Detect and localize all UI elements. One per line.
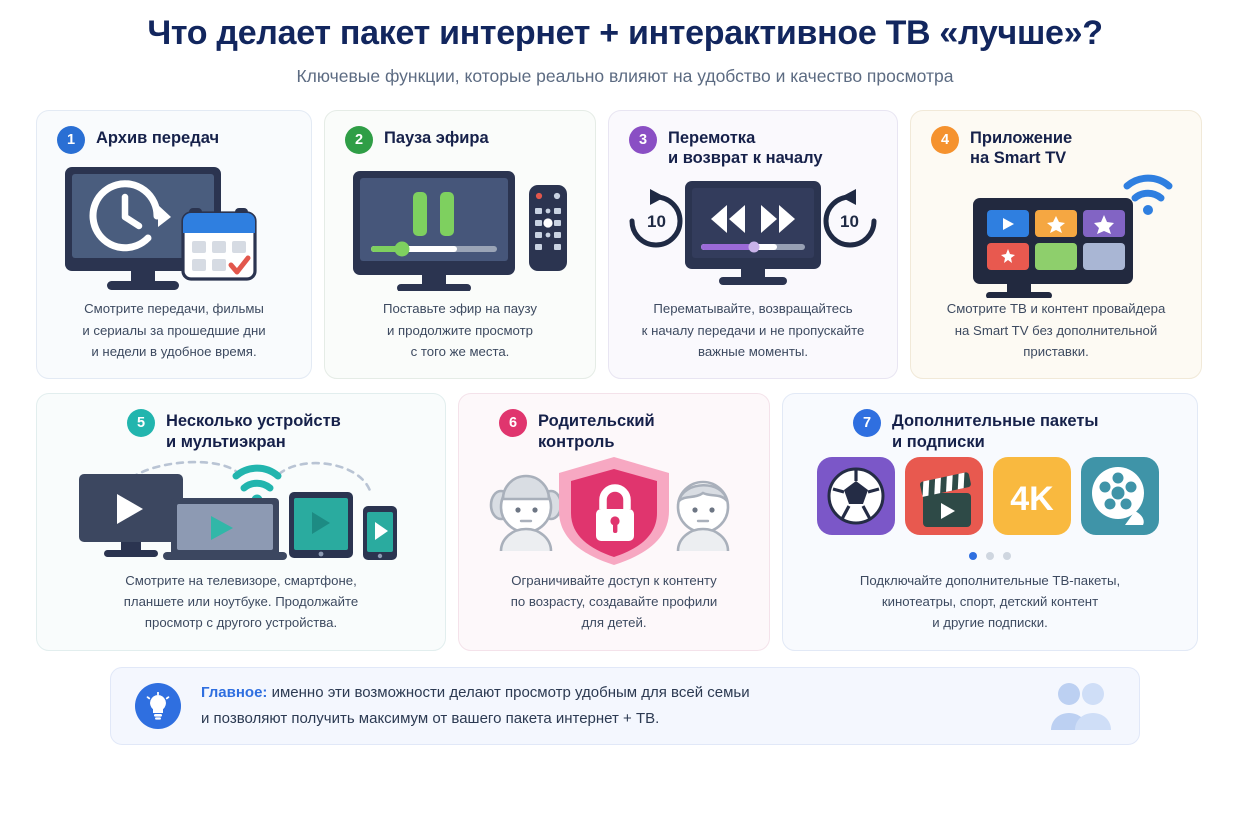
tile-film-reel	[1081, 457, 1159, 535]
dot-3[interactable]	[1003, 552, 1011, 560]
header: Что делает пакет интернет + интерактивно…	[0, 0, 1250, 87]
card-4-number-badge: 4	[931, 126, 959, 154]
feature-card-3[interactable]: 3 Перемотка и возврат к началу 10	[608, 110, 898, 379]
page-title: Что делает пакет интернет + интерактивно…	[0, 14, 1250, 53]
summary-highlight: Главное:	[201, 684, 267, 701]
subscription-tiles-icon: 4K	[815, 453, 1165, 543]
card-1-title: Архив передач	[96, 125, 219, 148]
tv-rewind-forward-icon: 10	[623, 177, 883, 289]
card-2-head: 2 Пауза эфира	[339, 125, 581, 154]
card-4-title: Приложение на Smart TV	[970, 125, 1072, 168]
card-5-illustration	[51, 452, 431, 570]
card-6-number-badge: 6	[499, 409, 527, 437]
tv-clock-calendar-icon	[59, 161, 289, 291]
skip-forward-10-icon: 10	[826, 189, 874, 245]
card-5-number-badge: 5	[127, 409, 155, 437]
card-4-description: Смотрите ТВ и контент провайдера на Smar…	[925, 298, 1187, 362]
feature-card-2[interactable]: 2 Пауза эфира	[324, 110, 596, 379]
card-4-illustration	[925, 168, 1187, 298]
infographic-page: Что делает пакет интернет + интерактивно…	[0, 0, 1250, 833]
summary-banner: Главное: именно эти возможности делают п…	[110, 667, 1140, 745]
tile-clapperboard	[905, 457, 983, 535]
card-1-head: 1 Архив передач	[51, 125, 297, 154]
svg-text:10: 10	[840, 212, 859, 231]
card-6-description: Ограничивайте доступ к контенту по возра…	[473, 570, 755, 634]
card-3-description: Перематывайте, возвращайтесь к началу пе…	[623, 298, 883, 362]
svg-text:10: 10	[647, 212, 666, 231]
card-6-illustration	[473, 452, 755, 570]
lightbulb-icon	[145, 692, 171, 720]
card-4-head: 4 Приложение на Smart TV	[925, 125, 1187, 168]
card-6-head: 6 Родительский контроль	[473, 408, 755, 451]
two-people-icon	[1047, 680, 1113, 732]
tile-football	[817, 457, 895, 535]
wifi-icon	[1127, 178, 1169, 198]
svg-text:4K: 4K	[1010, 480, 1054, 518]
two-people-badge	[1047, 680, 1113, 732]
summary-line-2: и позволяют получить максимум от вашего …	[201, 706, 1027, 732]
summary-line-1: Главное: именно эти возможности делают п…	[201, 684, 750, 701]
cards-row-bottom: 5 Несколько устройств и мультиэкран	[0, 393, 1250, 650]
card-7-description: Подключайте дополнительные ТВ-пакеты, ки…	[797, 570, 1183, 634]
feature-card-1[interactable]: 1 Архив передач	[36, 110, 312, 379]
card-1-number-badge: 1	[57, 126, 85, 154]
card-7-title: Дополнительные пакеты и подписки	[892, 408, 1099, 451]
cards-row-top: 1 Архив передач	[0, 110, 1250, 379]
card-2-illustration	[339, 154, 581, 298]
feature-card-4[interactable]: 4 Приложение на Smart TV	[910, 110, 1202, 379]
card-3-illustration: 10	[623, 168, 883, 298]
dot-1[interactable]	[969, 552, 977, 560]
summary-text: Главное: именно эти возможности делают п…	[201, 680, 1027, 733]
pagination-dots[interactable]	[969, 552, 1011, 560]
page-subtitle: Ключевые функции, которые реально влияют…	[0, 66, 1250, 87]
multi-device-icon	[71, 452, 411, 570]
card-3-head: 3 Перемотка и возврат к началу	[623, 125, 883, 168]
tv-pause-remote-icon	[347, 161, 573, 291]
card-1-description: Смотрите передачи, фильмы и сериалы за п…	[51, 298, 297, 362]
shield-lock-children-icon	[479, 455, 749, 567]
summary-line-1-rest: именно эти возможности делают просмотр у…	[267, 684, 749, 701]
card-6-title: Родительский контроль	[538, 408, 655, 451]
feature-card-5[interactable]: 5 Несколько устройств и мультиэкран	[36, 393, 446, 650]
wifi-icon	[236, 468, 278, 488]
feature-card-7[interactable]: 7 Дополнительные пакеты и подписки	[782, 393, 1198, 650]
girl-avatar	[491, 476, 561, 551]
card-3-title: Перемотка и возврат к началу	[668, 125, 823, 168]
card-7-head: 7 Дополнительные пакеты и подписки	[797, 408, 1183, 451]
feature-card-6[interactable]: 6 Родительский контроль	[458, 393, 770, 650]
card-5-head: 5 Несколько устройств и мультиэкран	[51, 408, 431, 451]
smart-tv-apps-wifi-icon	[931, 168, 1181, 298]
tile-4k: 4K	[993, 457, 1071, 535]
skip-back-10-icon: 10	[632, 189, 680, 245]
boy-avatar	[678, 482, 728, 551]
card-1-illustration	[51, 154, 297, 298]
dot-2[interactable]	[986, 552, 994, 560]
lightbulb-badge	[135, 683, 181, 729]
card-2-number-badge: 2	[345, 126, 373, 154]
card-7-number-badge: 7	[853, 409, 881, 437]
card-7-illustration: 4K	[797, 452, 1183, 562]
card-5-title: Несколько устройств и мультиэкран	[166, 408, 341, 451]
card-2-description: Поставьте эфир на паузу и продолжите про…	[339, 298, 581, 362]
card-2-title: Пауза эфира	[384, 125, 489, 148]
card-3-number-badge: 3	[629, 126, 657, 154]
card-5-description: Смотрите на телевизоре, смартфоне, планш…	[51, 570, 431, 634]
